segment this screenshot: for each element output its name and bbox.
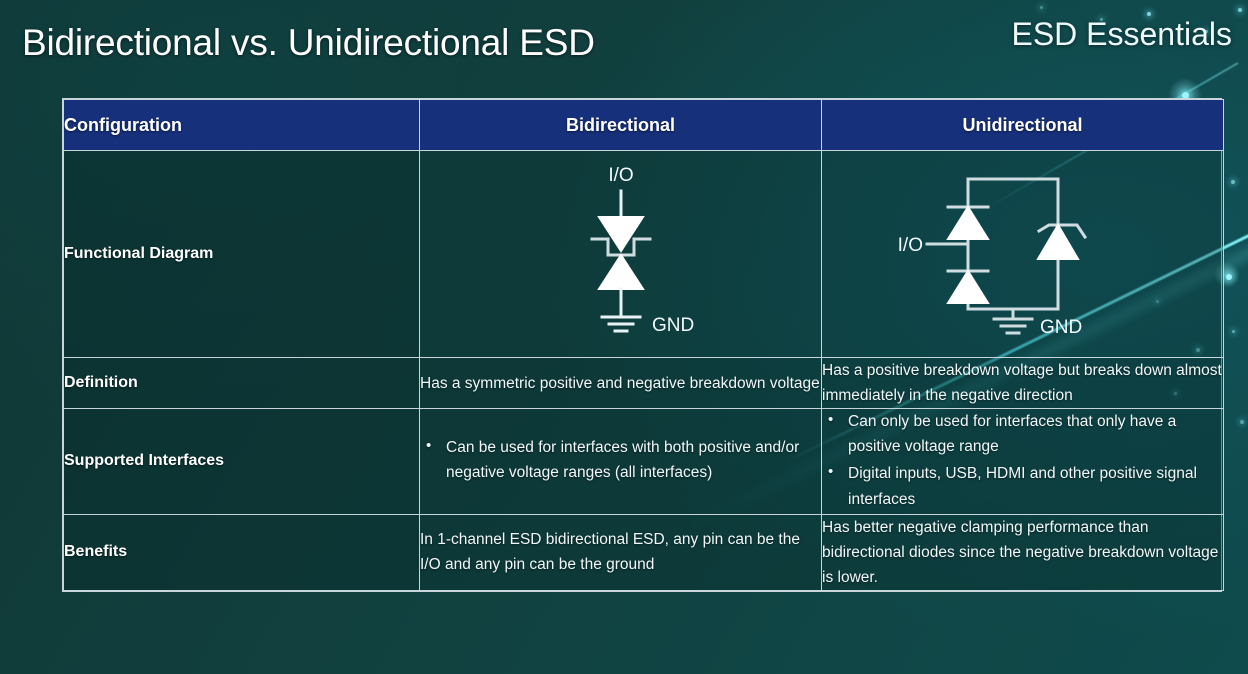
particle-dot-icon [1240, 420, 1244, 424]
slide-canvas: Bidirectional vs. Unidirectional ESD ESD… [0, 0, 1248, 674]
bidirectional-tvs-diode-icon: I/O GND [516, 159, 726, 349]
unidirectional-io-label: I/O [897, 235, 922, 256]
slide-title: Bidirectional vs. Unidirectional ESD [22, 22, 595, 64]
header-configuration: Configuration [64, 100, 420, 151]
table-row: Definition Has a symmetric positive and … [64, 358, 1224, 409]
bidirectional-io-label: I/O [608, 165, 633, 186]
list-item: Can only be used for interfaces that onl… [822, 409, 1223, 459]
cell-definition-bidirectional: Has a symmetric positive and negative br… [420, 358, 822, 409]
cell-benefits-bidirectional: In 1-channel ESD bidirectional ESD, any … [420, 514, 822, 590]
list-item: Digital inputs, USB, HDMI and other posi… [822, 461, 1223, 511]
bullet-list-bidirectional: Can be used for interfaces with both pos… [420, 435, 821, 485]
cell-interfaces-unidirectional: Can only be used for interfaces that onl… [822, 409, 1224, 514]
header-unidirectional: Unidirectional [822, 100, 1224, 151]
cell-definition-unidirectional: Has a positive breakdown voltage but bre… [822, 358, 1224, 409]
row-label-functional-diagram: Functional Diagram [64, 151, 420, 358]
steering-diode-upper-icon [948, 207, 988, 239]
particle-dot-icon [1040, 6, 1043, 9]
table-header: Configuration Bidirectional Unidirection… [64, 100, 1224, 151]
header-bidirectional: Bidirectional [420, 100, 822, 151]
bidirectional-gnd-label: GND [652, 315, 694, 336]
bullet-list-unidirectional: Can only be used for interfaces that onl… [822, 409, 1223, 511]
comparison-table-container: Configuration Bidirectional Unidirection… [62, 98, 1222, 592]
cell-unidirectional-diagram: I/O GND [822, 151, 1224, 358]
cell-interfaces-bidirectional: Can be used for interfaces with both pos… [420, 409, 822, 514]
particle-dot-icon [1226, 274, 1232, 280]
slide-kicker: ESD Essentials [1011, 16, 1232, 53]
table-header-row: Configuration Bidirectional Unidirection… [64, 100, 1224, 151]
table-body: Functional Diagram [64, 151, 1224, 591]
row-label-benefits: Benefits [64, 514, 420, 590]
cell-benefits-unidirectional: Has better negative clamping performance… [822, 514, 1224, 590]
cell-bidirectional-diagram: I/O GND [420, 151, 822, 358]
particle-dot-icon [1231, 180, 1235, 184]
steering-diode-lower-icon [948, 271, 988, 303]
table-row: Supported Interfaces Can be used for int… [64, 409, 1224, 514]
particle-dot-icon [1232, 330, 1235, 333]
table-row: Benefits In 1-channel ESD bidirectional … [64, 514, 1224, 590]
list-item: Can be used for interfaces with both pos… [420, 435, 821, 485]
row-label-definition: Definition [64, 358, 420, 409]
unidirectional-esd-circuit-icon: I/O GND [893, 159, 1153, 349]
comparison-table: Configuration Bidirectional Unidirection… [63, 99, 1224, 591]
row-label-supported-interfaces: Supported Interfaces [64, 409, 420, 514]
table-row: Functional Diagram [64, 151, 1224, 358]
unidirectional-gnd-label: GND [1040, 317, 1082, 338]
zener-diode-icon [1038, 225, 1078, 259]
particle-dot-icon [1238, 8, 1242, 12]
